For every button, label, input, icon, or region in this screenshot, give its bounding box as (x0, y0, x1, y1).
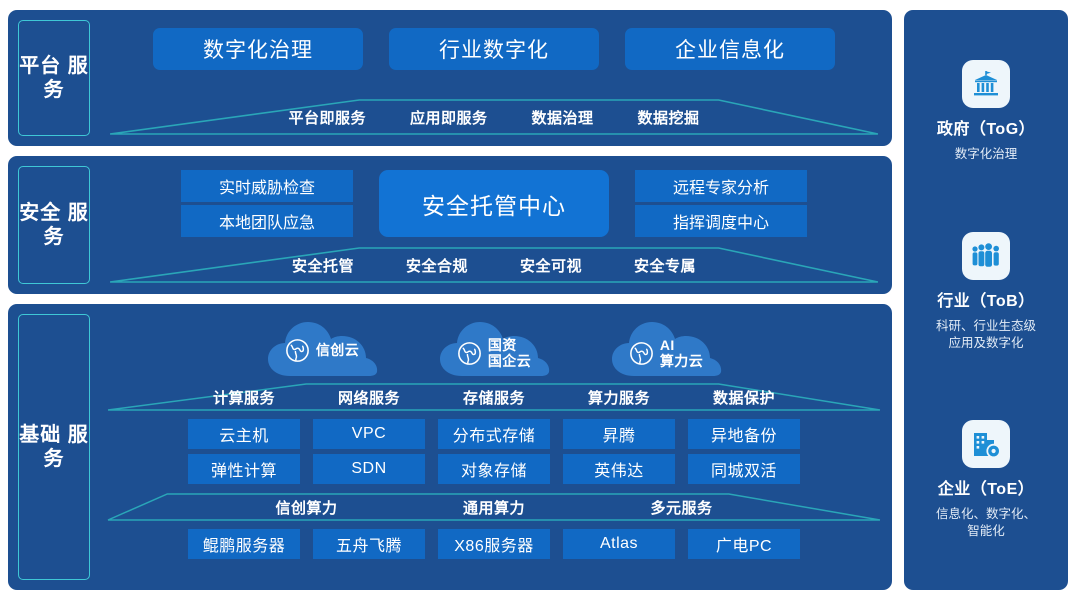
cloud-ai-compute-label: AI 算力云 (660, 338, 703, 369)
enterprise-gear-icon (970, 428, 1002, 460)
service-header-storage: 存储服务 (438, 387, 550, 408)
service-header-labels: 计算服务 网络服务 存储服务 算力服务 数据保护 (106, 382, 882, 412)
segment-government[interactable]: 政府（ToG） 数字化治理 (937, 60, 1035, 163)
platform-band-label-3: 数据挖掘 (638, 107, 700, 128)
security-row: 实时威胁检查 本地团队应急 安全托管中心 远程专家分析 指挥调度中心 (106, 164, 882, 237)
segment-industry-title: 行业（ToB） (937, 287, 1034, 311)
service-header-computing-power: 算力服务 (563, 387, 675, 408)
platform-band-label-2: 数据治理 (532, 107, 594, 128)
compute-cell-wuzhou-phytium[interactable]: 五舟飞腾 (313, 529, 425, 559)
service-header-data-protection: 数据保护 (688, 387, 800, 408)
service-column-compute: 云主机 弹性计算 (188, 419, 300, 484)
security-services-label: 安全 服务 (18, 166, 90, 284)
platform-band: 平台即服务 应用即服务 数据治理 数据挖掘 (106, 96, 882, 138)
service-header-block: 计算服务 网络服务 存储服务 算力服务 数据保护 云主机 弹性计算 (106, 382, 882, 484)
service-header-network: 网络服务 (313, 387, 425, 408)
service-cell-nvidia[interactable]: 英伟达 (563, 454, 675, 484)
service-cell-vpc[interactable]: VPC (313, 419, 425, 449)
service-grid: 云主机 弹性计算 VPC SDN 分布式存储 对象存储 昇腾 (106, 419, 882, 484)
segment-government-title: 政府（ToG） (937, 115, 1035, 139)
compute-cell-kunpeng-server[interactable]: 鲲鹏服务器 (188, 529, 300, 559)
segment-enterprise-title: 企业（ToE） (938, 475, 1035, 499)
service-cell-ascend[interactable]: 昇腾 (563, 419, 675, 449)
layers-column: 平台 服务 数字化治理 行业数字化 企业信息化 平台即服务 应用即服务 数据治理 (8, 10, 892, 590)
compute-cell-x86-server[interactable]: X86服务器 (438, 529, 550, 559)
security-cell-local-team-emergency[interactable]: 本地团队应急 (181, 205, 353, 237)
service-header-band: 计算服务 网络服务 存储服务 算力服务 数据保护 (106, 382, 882, 412)
platform-pill-enterprise-informatization[interactable]: 企业信息化 (625, 28, 835, 70)
cloud-ai-compute[interactable]: AI 算力云 (608, 318, 724, 380)
service-cell-remote-backup[interactable]: 异地备份 (688, 419, 800, 449)
service-cell-distributed-storage[interactable]: 分布式存储 (438, 419, 550, 449)
segment-industry[interactable]: 行业（ToB） 科研、行业生态级 应用及数字化 (936, 232, 1036, 352)
platform-band-label-0: 平台即服务 (288, 107, 366, 128)
security-band-label-2: 安全可视 (520, 255, 582, 276)
compute-cell-atlas[interactable]: Atlas (563, 529, 675, 559)
platform-services-body: 数字化治理 行业数字化 企业信息化 平台即服务 应用即服务 数据治理 数据挖掘 (90, 18, 882, 138)
security-band-label-0: 安全托管 (292, 255, 354, 276)
compute-header-labels: 信创算力 通用算力 多元服务 (106, 492, 882, 522)
cloud-ai-compute-inner: AI 算力云 (608, 338, 724, 369)
cloud-soe-inner: 国资 国企云 (436, 338, 552, 369)
service-cell-object-storage[interactable]: 对象存储 (438, 454, 550, 484)
security-left-stack: 实时威胁检查 本地团队应急 (181, 170, 353, 237)
compute-header-block: 信创算力 通用算力 多元服务 鲲鹏服务器 五舟飞腾 X86服务器 Atlas 广… (106, 492, 882, 559)
cloud-soe[interactable]: 国资 国企云 (436, 318, 552, 380)
security-services-body: 实时威胁检查 本地团队应急 安全托管中心 远程专家分析 指挥调度中心 安全托管 (90, 164, 882, 286)
industry-icon-tile (962, 232, 1010, 280)
service-header-compute: 计算服务 (188, 387, 300, 408)
infrastructure-services-panel: 基础 服务 信创云 (8, 304, 892, 590)
compute-header-band: 信创算力 通用算力 多元服务 (106, 492, 882, 522)
service-column-computing-power: 昇腾 英伟达 (563, 419, 675, 484)
service-column-data-protection: 异地备份 同城双活 (688, 419, 800, 484)
platform-band-labels: 平台即服务 应用即服务 数据治理 数据挖掘 (106, 96, 882, 138)
platform-pill-row: 数字化治理 行业数字化 企业信息化 (106, 18, 882, 70)
security-band-labels: 安全托管 安全合规 安全可视 安全专属 (106, 244, 882, 286)
compute-header-xinchuang: 信创算力 (188, 497, 425, 518)
people-group-icon (969, 240, 1003, 272)
globe-icon (285, 338, 310, 363)
cloud-xinchuang-inner: 信创云 (264, 338, 380, 363)
globe-icon (629, 341, 654, 366)
cloud-xinchuang-label: 信创云 (316, 343, 359, 359)
infrastructure-services-body: 信创云 国资 国企云 (90, 312, 882, 582)
security-band: 安全托管 安全合规 安全可视 安全专属 (106, 244, 882, 286)
segment-enterprise-subtitle: 信息化、数字化、 智能化 (936, 506, 1036, 540)
service-column-storage: 分布式存储 对象存储 (438, 419, 550, 484)
segment-enterprise[interactable]: 企业（ToE） 信息化、数字化、 智能化 (936, 420, 1036, 540)
security-right-stack: 远程专家分析 指挥调度中心 (635, 170, 807, 237)
platform-services-panel: 平台 服务 数字化治理 行业数字化 企业信息化 平台即服务 应用即服务 数据治理 (8, 10, 892, 146)
security-band-label-3: 安全专属 (634, 255, 696, 276)
cloud-soe-label: 国资 国企云 (488, 338, 531, 369)
compute-header-general: 通用算力 (438, 497, 550, 518)
cloud-row: 信创云 国资 国企云 (106, 312, 882, 382)
security-band-label-1: 安全合规 (406, 255, 468, 276)
diagram-root: 平台 服务 数字化治理 行业数字化 企业信息化 平台即服务 应用即服务 数据治理 (0, 0, 1080, 599)
platform-pill-digital-governance[interactable]: 数字化治理 (153, 28, 363, 70)
segment-government-subtitle: 数字化治理 (955, 146, 1018, 163)
security-cell-realtime-threat-check[interactable]: 实时威胁检查 (181, 170, 353, 202)
security-managed-center[interactable]: 安全托管中心 (379, 170, 609, 237)
infrastructure-services-label: 基础 服务 (18, 314, 90, 580)
service-cell-elastic-compute[interactable]: 弹性计算 (188, 454, 300, 484)
security-cell-command-dispatch-center[interactable]: 指挥调度中心 (635, 205, 807, 237)
customer-segments-panel: 政府（ToG） 数字化治理 行业（ToB） 科研、行业生态级 应用及数字化 (904, 10, 1068, 590)
government-icon-tile (962, 60, 1010, 108)
globe-icon (457, 341, 482, 366)
enterprise-icon-tile (962, 420, 1010, 468)
compute-grid: 鲲鹏服务器 五舟飞腾 X86服务器 Atlas 广电PC (106, 529, 882, 559)
government-building-icon (970, 68, 1002, 100)
service-cell-metro-active-active[interactable]: 同城双活 (688, 454, 800, 484)
segment-industry-subtitle: 科研、行业生态级 应用及数字化 (936, 318, 1036, 352)
cloud-xinchuang[interactable]: 信创云 (264, 318, 380, 380)
service-cell-cloud-host[interactable]: 云主机 (188, 419, 300, 449)
platform-services-label: 平台 服务 (18, 20, 90, 136)
platform-band-label-1: 应用即服务 (410, 107, 488, 128)
compute-cell-broadcast-pc[interactable]: 广电PC (688, 529, 800, 559)
security-services-panel: 安全 服务 实时威胁检查 本地团队应急 安全托管中心 远程专家分析 指挥调度中心 (8, 156, 892, 294)
security-cell-remote-expert-analysis[interactable]: 远程专家分析 (635, 170, 807, 202)
compute-header-diverse: 多元服务 (563, 497, 800, 518)
platform-pill-industry-digitalization[interactable]: 行业数字化 (389, 28, 599, 70)
service-column-network: VPC SDN (313, 419, 425, 484)
service-cell-sdn[interactable]: SDN (313, 454, 425, 484)
